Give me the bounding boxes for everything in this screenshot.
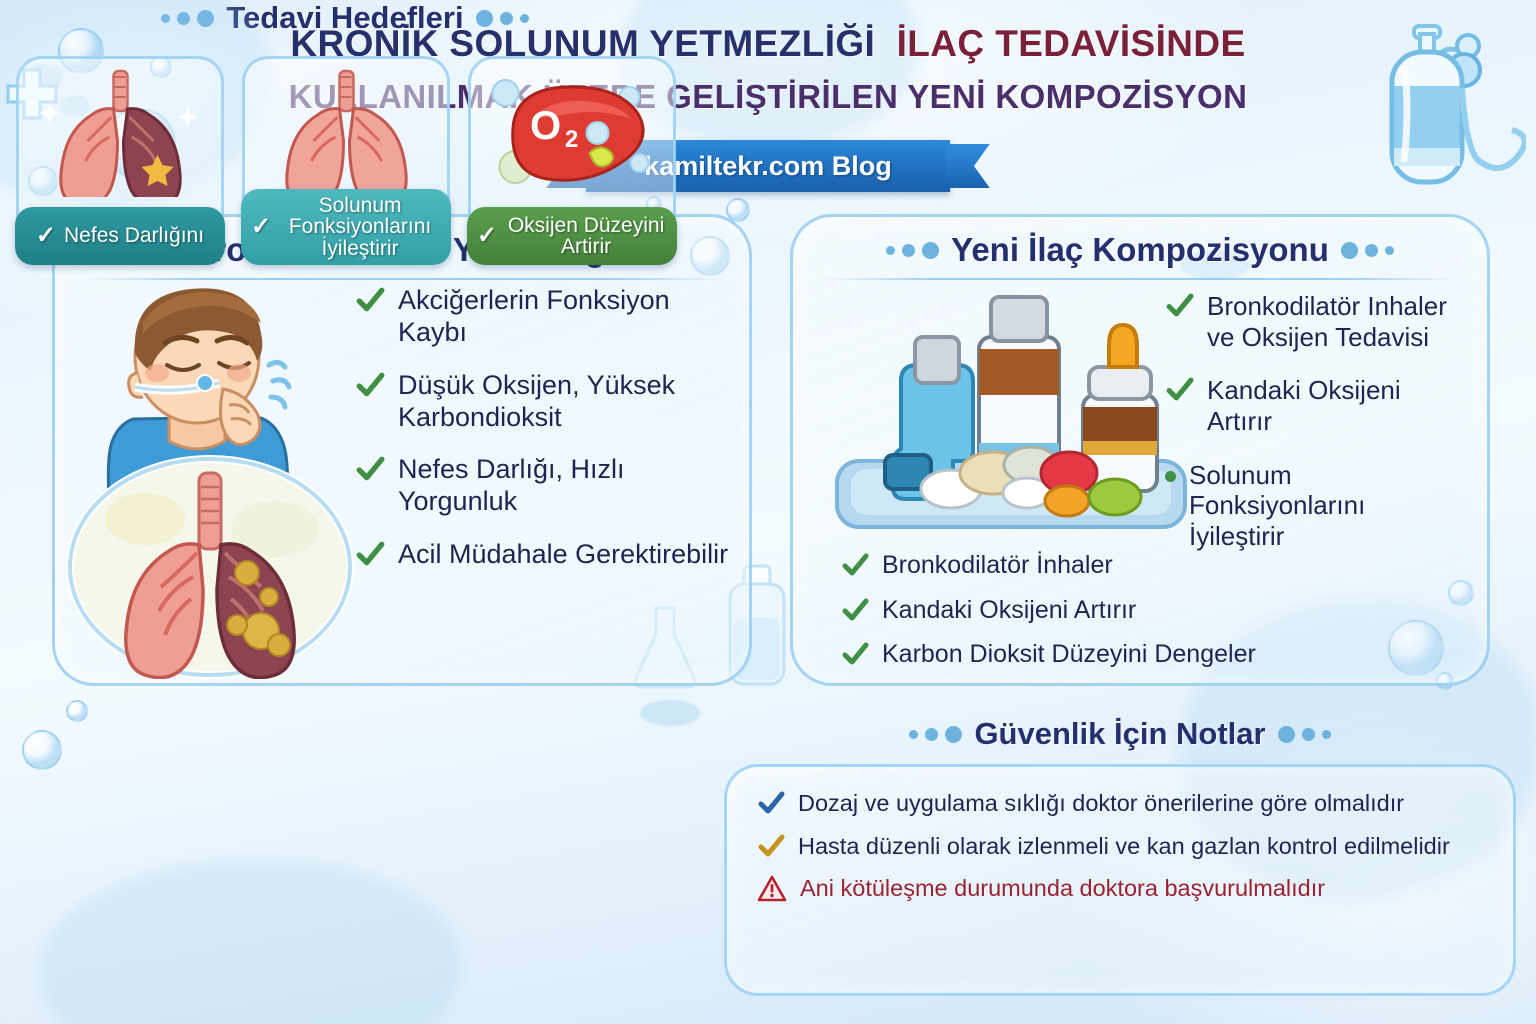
newdrug-component-list: Bronkodilatör İnhalerKandaki Oksijeni Ar…: [841, 551, 1381, 685]
list-item-label: Akciğerlerin Fonksiyon Kaybı: [398, 285, 745, 349]
diseased-lungs-icon: [65, 449, 355, 679]
list-item-label: Kandaki Oksijeni Artırır: [1207, 375, 1455, 436]
goal-card-breathlessness[interactable]: ✓ Nefes Darlığını: [16, 56, 224, 256]
check-green-icon: [841, 551, 869, 579]
safety-panel-title-text: Güvenlik İçin Notlar: [974, 716, 1265, 752]
newdrug-panel-title-text: Yeni İlaç Kompozisyonu: [951, 231, 1329, 269]
page-title-line-1: KRONİK SOLUNUM YETMEZLİĞİ İLAÇ TEDAVİSİN…: [0, 0, 1536, 64]
check-icon: ✓: [251, 215, 271, 239]
list-item: Dozaj ve uygulama sıklığı doktor önerile…: [757, 789, 1493, 818]
safety-dots-right-decor: [1278, 726, 1331, 743]
list-item: Kandaki Oksijeni Artırır: [1165, 375, 1455, 436]
goal-chip-breathlessness[interactable]: ✓ Nefes Darlığını: [15, 207, 225, 265]
list-item: Nefes Darlığı, Hızlı Yorgunluk: [355, 454, 745, 518]
check-green-icon: [355, 285, 385, 315]
list-item-label: Nefes Darlığı, Hızlı Yorgunluk: [398, 454, 745, 518]
page-title-part-b: İLAÇ TEDAVİSİNDE: [897, 23, 1246, 64]
list-item-label: Dozaj ve uygulama sıklığı doktor önerile…: [798, 789, 1404, 818]
red-blood-cell-o2-icon: O 2: [480, 67, 665, 197]
list-item-label: Hasta düzenli olarak izlenmeli ve kan ga…: [798, 832, 1450, 861]
list-item: Hasta düzenli olarak izlenmeli ve kan ga…: [757, 832, 1493, 861]
list-item: Kandaki Oksijeni Artırır: [841, 596, 1381, 626]
list-item-label: Karbon Dioksit Düzeyini Dengeler: [882, 640, 1256, 670]
goal-chip-lung-function[interactable]: ✓ Solunum Fonksiyonlarını İyileştirir: [241, 189, 451, 265]
safety-panel-header: Güvenlik İçin Notlar: [720, 716, 1520, 752]
list-item-label: Bronkodilatör Inhaler ve Oksijen Tedavis…: [1207, 291, 1455, 352]
warning-triangle-icon: [757, 875, 787, 902]
check-green-icon: [355, 539, 385, 569]
damaged-lungs-icon: [28, 67, 213, 197]
disease-panel: Kronik Solunum Yetmezliği: [52, 214, 752, 686]
medicine-tray-icon: [831, 275, 1211, 545]
list-item-label: Kandaki Oksijeni Artırır: [882, 596, 1136, 626]
list-item-label: Ani kötüleşme durumunda doktora başvurul…: [800, 874, 1325, 903]
list-item: Solunum Fonksiyonlarını İyileştirir: [1165, 460, 1455, 552]
list-item: Bronkodilatör İnhaler: [841, 551, 1381, 581]
newdrug-panel-title: Yeni İlaç Kompozisyonu: [793, 217, 1487, 269]
o2-subscript: 2: [565, 126, 578, 153]
check-blue-icon: [757, 789, 785, 817]
healthy-lungs-icon: [254, 67, 439, 197]
goal-chip-oxygen-level[interactable]: ✓ Oksijen Düzeyini Artirir: [467, 207, 677, 265]
o2-label: O: [530, 104, 561, 148]
check-green-icon: [841, 640, 869, 668]
check-green-icon: [355, 454, 385, 484]
disease-symptom-list: Akciğerlerin Fonksiyon KaybıDüşük Oksije…: [355, 285, 745, 592]
goal-card-oxygen-level[interactable]: O 2 ✓ Oksijen Düzeyini Artirir: [468, 56, 676, 256]
safety-dots-left-decor: [909, 726, 962, 743]
list-item-label: Bronkodilatör İnhaler: [882, 551, 1113, 581]
newdrug-panel: Yeni İlaç Kompozisyonu Bronkodilatör Inh…: [790, 214, 1490, 686]
bullet-dot-icon: [1165, 471, 1176, 482]
goal-card-lung-function[interactable]: ✓ Solunum Fonksiyonlarını İyileştirir: [242, 56, 450, 256]
safety-note-list: Dozaj ve uygulama sıklığı doktor önerile…: [757, 789, 1493, 917]
check-icon: ✓: [36, 224, 56, 248]
dots-left-decor: [886, 242, 939, 259]
list-item: Bronkodilatör Inhaler ve Oksijen Tedavis…: [1165, 291, 1455, 352]
safety-panel: Dozaj ve uygulama sıklığı doktor önerile…: [724, 764, 1516, 996]
goal-chip-label: Oksijen Düzeyini Artirir: [505, 215, 667, 258]
list-item-label: Düşük Oksijen, Yüksek Karbondioksit: [398, 370, 745, 434]
check-green-icon: [1165, 375, 1194, 404]
list-item: Karbon Dioksit Düzeyini Dengeler: [841, 640, 1381, 670]
check-green-icon: [355, 370, 385, 400]
goal-chip-label: Solunum Fonksiyonlarını İyileştirir: [279, 195, 441, 259]
list-item: Akciğerlerin Fonksiyon Kaybı: [355, 285, 745, 349]
list-item: Ani kötüleşme durumunda doktora başvurul…: [757, 874, 1493, 903]
list-item-label: Solunum Fonksiyonlarını İyileştirir: [1189, 460, 1455, 552]
newdrug-benefit-list: Bronkodilatör Inhaler ve Oksijen Tedavis…: [1165, 291, 1455, 575]
check-gold-icon: [757, 832, 785, 860]
check-icon: ✓: [477, 224, 497, 248]
goal-card-row: ✓ Nefes Darlığını ✓ Solunum Fonksiyonlar…: [16, 56, 676, 256]
list-item-label: Acil Müdahale Gerektirebilir: [398, 539, 728, 571]
dots-right-decor: [1341, 242, 1394, 259]
goal-chip-label: Nefes Darlığını: [64, 225, 204, 246]
oxygen-tank-icon: [1316, 8, 1526, 198]
list-item: Acil Müdahale Gerektirebilir: [355, 539, 745, 571]
check-green-icon: [1165, 291, 1194, 320]
check-green-icon: [841, 596, 869, 624]
list-item: Düşük Oksijen, Yüksek Karbondioksit: [355, 370, 745, 434]
safety-panel-title: Güvenlik İçin Notlar: [720, 716, 1520, 752]
